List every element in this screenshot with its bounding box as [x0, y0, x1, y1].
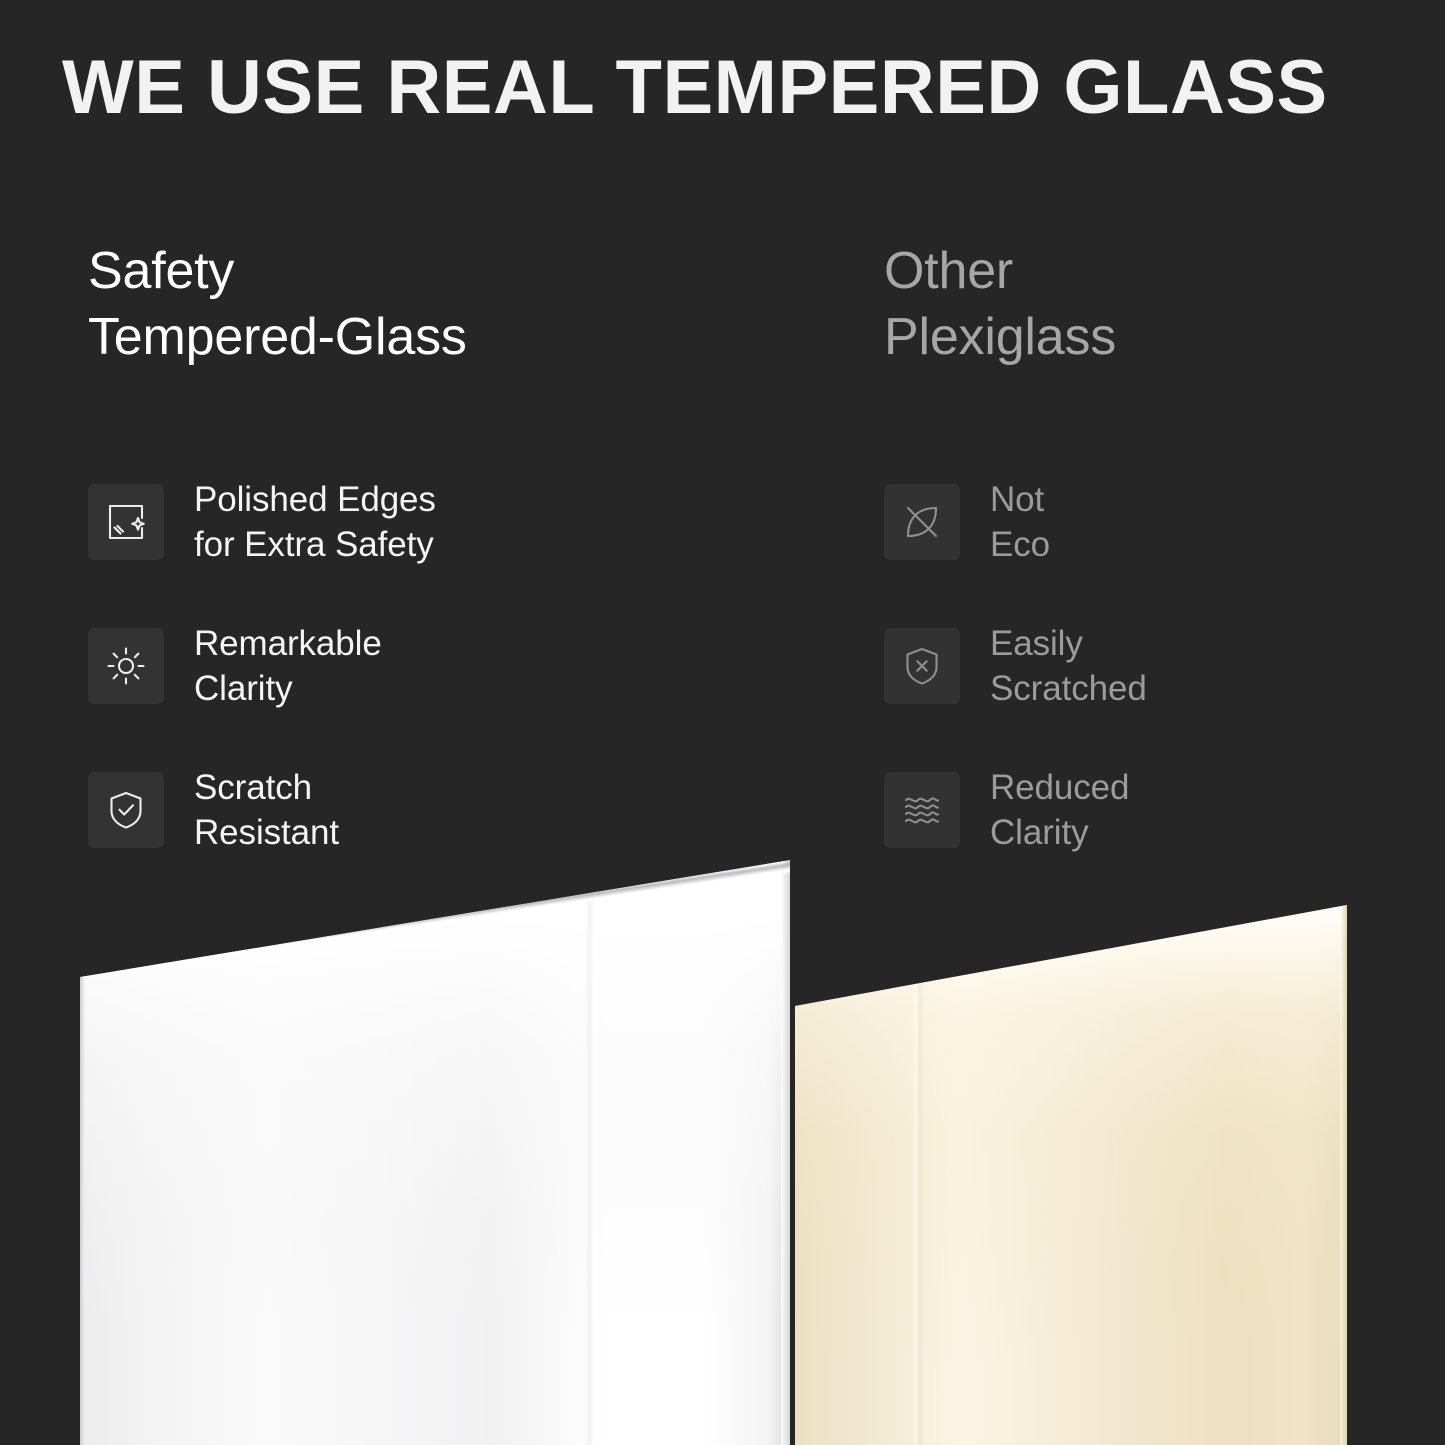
sun-clarity-icon — [88, 628, 164, 704]
page-title: WE USE REAL TEMPERED GLASS — [62, 42, 1402, 134]
column-tempered-glass: Safety Tempered-Glass Polished Edges for… — [88, 238, 808, 370]
plexiglass-panel — [795, 905, 1347, 1445]
glass-panel-comparison-image — [0, 840, 1445, 1445]
feature-label: Easily Scratched — [990, 621, 1147, 711]
glass-left-edge — [80, 860, 85, 1445]
polished-glass-pane-sparkle-icon — [88, 484, 164, 560]
feature-list-left: Polished Edges for Extra Safety — [88, 450, 808, 882]
comparison-infographic: WE USE REAL TEMPERED GLASS Safety Temper… — [0, 0, 1445, 1445]
glass-right-edge — [781, 860, 790, 1445]
tempered-glass-panel — [80, 860, 790, 1445]
polished-bevel-edge — [81, 850, 863, 980]
feature-list-right: Not Eco Easily Scratched — [884, 450, 1404, 882]
feature-row: Remarkable Clarity — [88, 594, 808, 738]
plexi-highlight-seam — [912, 905, 924, 1445]
leaf-crossed-out-icon — [884, 484, 960, 560]
feature-label: Remarkable Clarity — [194, 621, 382, 711]
feature-row: Easily Scratched — [884, 594, 1404, 738]
feature-row: Polished Edges for Extra Safety — [88, 450, 808, 594]
shield-check-icon — [88, 772, 164, 848]
column-plexiglass: Other Plexiglass Not Eco — [884, 238, 1404, 370]
feature-label: Not Eco — [990, 477, 1050, 567]
feature-row: Not Eco — [884, 450, 1404, 594]
column-title-left: Safety Tempered-Glass — [88, 238, 808, 370]
wavy-lines-icon — [884, 772, 960, 848]
plexi-right-edge — [1340, 905, 1347, 1445]
feature-label: Polished Edges for Extra Safety — [194, 477, 436, 567]
column-title-right: Other Plexiglass — [884, 238, 1404, 370]
glass-highlight-seam — [585, 860, 599, 1445]
shield-x-icon — [884, 628, 960, 704]
